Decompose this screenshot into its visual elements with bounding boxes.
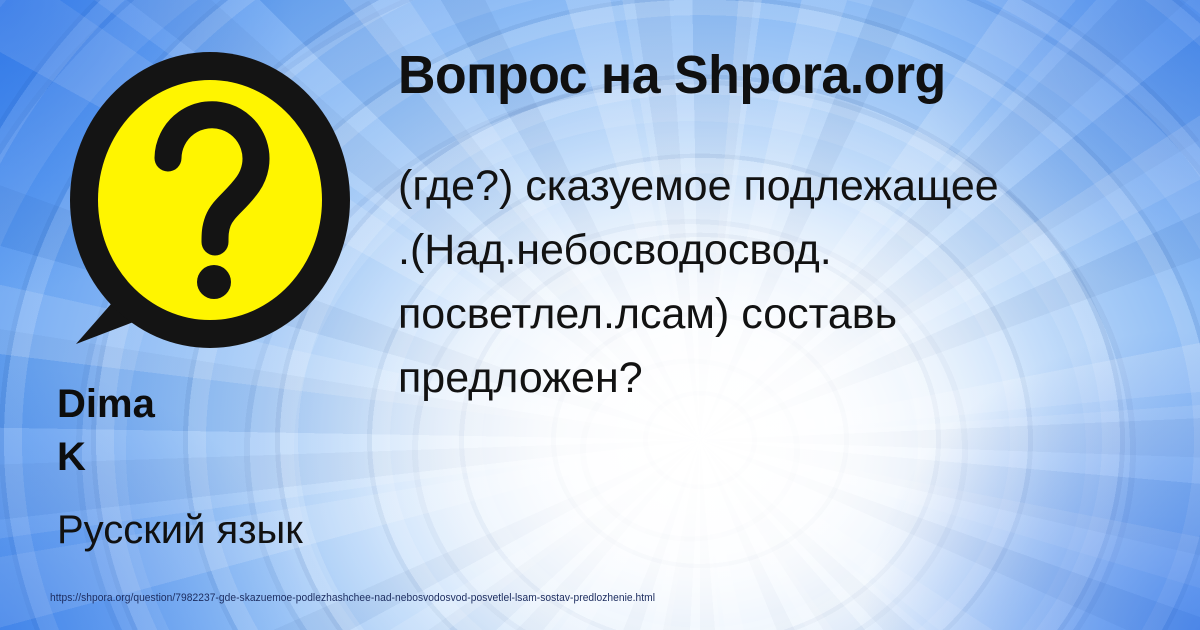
question-line: предложен? (398, 346, 1188, 410)
source-url[interactable]: https://shpora.org/question/7982237-gde-… (50, 592, 655, 604)
author-name-line: K (57, 431, 357, 484)
question-speech-bubble-icon (58, 52, 358, 352)
page-title: Вопрос на Shpora.org (398, 44, 946, 106)
author-name: Dima K (57, 378, 357, 484)
question-line: .(Над.небосводосвод. (398, 218, 1188, 282)
subject-label: Русский язык (57, 508, 303, 553)
question-share-card: Вопрос на Shpora.org (где?) сказуемое по… (0, 0, 1200, 630)
question-text: (где?) сказуемое подлежащее .(Над.небосв… (398, 154, 1188, 410)
question-line: посветлел.лсам) составь (398, 282, 1188, 346)
author-name-line: Dima (57, 378, 357, 431)
question-line: (где?) сказуемое подлежащее (398, 154, 1188, 218)
